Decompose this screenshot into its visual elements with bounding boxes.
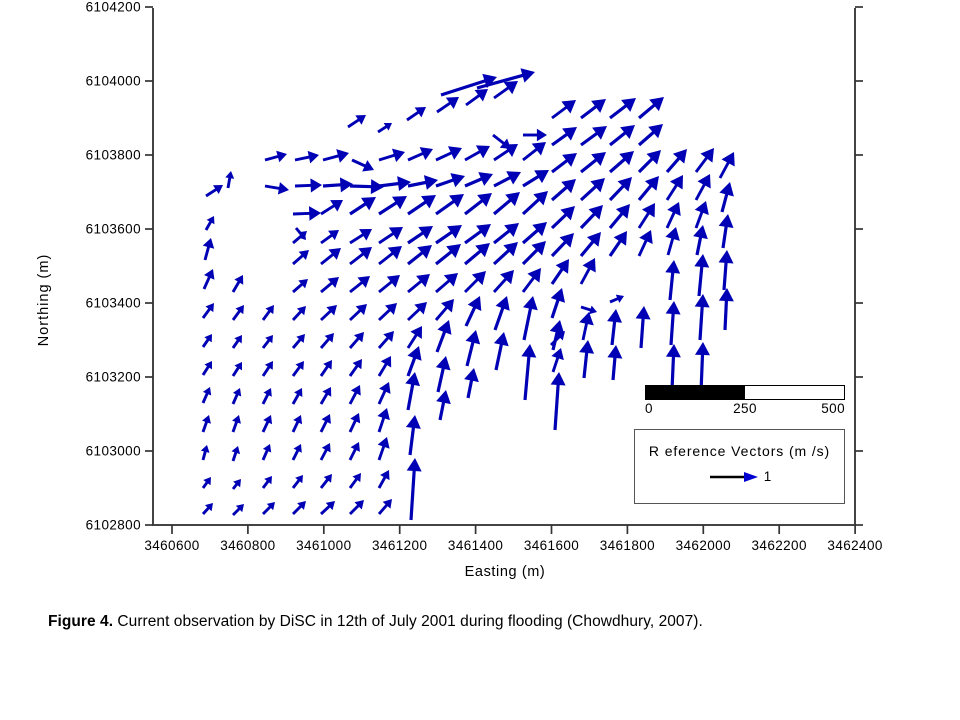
current-vector-arrow <box>350 413 360 432</box>
scale-bar-track <box>645 385 845 400</box>
current-vector-arrow <box>348 115 366 127</box>
x-tick-label: 3460600 <box>144 538 199 553</box>
current-vector-arrow <box>350 442 360 460</box>
current-vector-arrow <box>436 146 462 160</box>
current-vector-arrow <box>321 360 332 376</box>
current-vector-arrow <box>350 385 361 404</box>
current-vector-arrow <box>321 333 334 348</box>
current-vector-arrow <box>581 205 603 228</box>
current-vector-arrow <box>321 501 335 514</box>
current-vector-arrow <box>203 238 214 260</box>
current-vector-arrow <box>551 288 565 318</box>
current-vector-arrow <box>233 504 244 515</box>
current-vector-arrow <box>695 201 709 228</box>
current-vector-arrow <box>293 206 321 221</box>
current-vector-arrow <box>321 305 337 320</box>
current-vector-arrow <box>350 197 376 214</box>
current-vector-arrow <box>639 97 664 118</box>
current-vector-arrow <box>521 344 536 400</box>
reference-vector-title: R eference Vectors (m /s) <box>635 443 844 459</box>
current-vector-arrow <box>321 230 339 243</box>
current-vector-arrow <box>293 501 306 514</box>
current-vector-arrow <box>379 356 391 376</box>
current-vector-arrow <box>379 275 400 292</box>
current-vector-arrow <box>204 269 214 289</box>
current-vector-arrow <box>293 279 308 292</box>
current-vector-arrow <box>350 500 364 514</box>
x-tick-label: 3460800 <box>220 538 275 553</box>
caption-label: Figure 4. <box>48 613 113 630</box>
current-vector-arrow <box>523 170 549 186</box>
x-tick-label: 3462400 <box>827 538 882 553</box>
reference-vector-value: 1 <box>764 470 772 484</box>
plot-canvas <box>0 0 960 600</box>
current-vector-arrow <box>263 476 272 488</box>
current-vector-arrow <box>203 387 211 403</box>
x-tick-label: 3461400 <box>448 538 503 553</box>
current-vector-arrow <box>639 124 663 145</box>
current-vector-arrow <box>293 415 302 432</box>
current-vector-arrow <box>552 259 569 284</box>
current-vector-arrow <box>666 344 681 390</box>
current-vector-arrow <box>350 179 384 194</box>
scale-bar-tick-label: 0 <box>645 401 653 416</box>
current-vector-arrow <box>465 193 492 214</box>
current-vector-arrow <box>379 246 402 264</box>
current-vector-arrow <box>350 304 367 320</box>
scale-bar-fill <box>646 386 745 399</box>
scale-bar-tick-label: 500 <box>821 401 845 416</box>
current-vector-arrow <box>466 89 488 105</box>
current-vector-arrow <box>201 445 210 460</box>
current-vector-arrow <box>377 408 389 432</box>
current-vector-arrow <box>263 335 273 348</box>
current-vector-arrow <box>407 346 421 376</box>
current-vector-arrow <box>719 214 734 248</box>
distance-scale-bar: 0250500 <box>645 385 845 400</box>
current-vector-arrow <box>379 382 391 404</box>
current-vector-arrow <box>579 312 594 340</box>
current-vector-arrow <box>694 254 709 296</box>
current-vector-arrow <box>695 294 710 340</box>
current-vector-arrow <box>295 151 319 163</box>
current-vector-arrow <box>350 229 372 243</box>
current-vector-arrow <box>233 275 243 292</box>
current-vector-arrow <box>464 368 479 398</box>
current-vector-arrow <box>581 152 606 172</box>
current-vector-arrow <box>494 270 514 292</box>
current-vector-arrow <box>232 446 241 461</box>
current-vector-arrow <box>551 348 563 372</box>
current-vector-arrow <box>233 305 244 320</box>
current-vector-arrow <box>610 204 630 228</box>
current-vector-arrow <box>436 173 465 187</box>
current-vector-arrow <box>523 191 548 214</box>
figure-container: 6102800610300061032006103400610360061038… <box>0 0 960 720</box>
current-vector-arrow <box>323 177 353 192</box>
x-tick-label: 3461200 <box>372 538 427 553</box>
current-vector-arrow <box>639 230 653 256</box>
current-vector-arrow <box>552 100 576 118</box>
current-vector-arrow <box>667 175 683 200</box>
current-vector-arrow <box>379 176 411 191</box>
x-tick-label: 3461000 <box>296 538 351 553</box>
current-vector-arrow <box>323 149 349 163</box>
current-vector-arrow <box>607 345 622 380</box>
current-vector-arrow <box>408 245 432 264</box>
current-vector-arrow <box>263 361 273 376</box>
current-vector-arrow <box>233 479 241 489</box>
current-vector-arrow <box>523 296 538 340</box>
current-vector-arrow <box>552 206 575 228</box>
current-vector-arrow <box>321 200 343 214</box>
current-vector-arrow <box>523 268 541 292</box>
current-vector-arrow <box>232 415 241 432</box>
current-vector-arrow <box>406 415 421 455</box>
current-vector-arrow <box>696 148 714 172</box>
current-vector-arrow <box>693 225 708 255</box>
current-vector-arrow <box>552 153 577 172</box>
current-vector-arrow <box>233 362 242 376</box>
current-vector-arrow <box>293 306 306 320</box>
current-vector-arrow <box>379 303 397 320</box>
current-vector-arrow <box>494 223 519 243</box>
current-vector-arrow <box>639 150 661 172</box>
current-vector-arrow <box>203 361 212 375</box>
current-vector-arrow <box>206 185 223 196</box>
current-vector-arrow <box>465 271 486 292</box>
current-vector-arrow <box>719 288 734 330</box>
current-vector-arrow <box>350 359 362 376</box>
y-tick-label: 6103200 <box>86 370 141 385</box>
current-vector-arrow <box>494 242 518 264</box>
current-vector-arrow <box>379 196 407 214</box>
current-vector-arrow <box>494 144 518 160</box>
current-vector-arrow <box>552 127 577 145</box>
current-vector-arrow <box>263 444 271 460</box>
current-vector-arrow <box>666 301 681 345</box>
current-vector-arrow <box>552 233 574 256</box>
current-vector-arrow <box>408 226 433 243</box>
current-vector-arrow <box>265 151 287 162</box>
current-vector-arrow <box>321 443 331 460</box>
current-vector-arrow <box>203 477 211 488</box>
current-vector-arrow <box>408 274 430 292</box>
vector-field-plot: 6102800610300061032006103400610360061038… <box>0 0 960 600</box>
current-vector-arrow <box>350 247 372 264</box>
current-vector-arrow <box>321 474 332 488</box>
current-vector-arrow <box>408 147 433 160</box>
current-vector-arrow <box>407 458 422 520</box>
current-vector-arrow <box>350 473 361 488</box>
current-vector-arrow <box>408 175 438 190</box>
current-vector-arrow <box>265 182 289 194</box>
current-vector-arrow <box>293 250 309 264</box>
current-vector-arrow <box>636 306 651 348</box>
current-vector-arrow <box>202 415 211 432</box>
current-vector-arrow <box>233 388 241 404</box>
current-vector-arrow <box>466 296 481 326</box>
current-vector-arrow <box>379 331 394 348</box>
current-vector-arrow <box>667 202 681 228</box>
y-tick-label: 6103400 <box>86 296 141 311</box>
current-vector-arrow <box>551 372 566 430</box>
current-vector-arrow <box>579 340 594 378</box>
current-vector-arrow <box>610 177 632 200</box>
current-vector-arrow <box>581 232 601 256</box>
current-vector-arrow <box>233 335 242 348</box>
y-tick-label: 6104200 <box>86 0 141 15</box>
current-vector-arrow <box>352 160 374 172</box>
caption-text: Current observation by DiSC in 12th of J… <box>113 613 703 630</box>
current-vector-arrow <box>610 151 634 172</box>
current-vector-arrow <box>610 98 636 118</box>
current-vector-arrow <box>436 356 451 392</box>
current-vector-arrow <box>465 145 490 160</box>
y-tick-label: 6104000 <box>86 74 141 89</box>
current-vector-arrow <box>408 302 427 320</box>
current-vector-arrow <box>610 231 627 256</box>
current-vector-arrow <box>203 303 214 318</box>
current-vector-arrow <box>321 387 331 404</box>
current-vector-arrow <box>379 470 389 488</box>
current-vector-arrow <box>667 149 687 172</box>
y-tick-label: 6102800 <box>86 518 141 533</box>
current-vector-arrow <box>581 99 606 118</box>
current-vector-arrow <box>639 176 659 200</box>
x-tick-label: 3462200 <box>752 538 807 553</box>
current-vector-arrow <box>639 203 655 228</box>
current-vector-arrow <box>293 444 302 460</box>
current-vector-arrow <box>610 125 635 145</box>
current-vector-arrow <box>581 178 605 200</box>
current-vector-arrow <box>405 372 420 410</box>
current-vector-arrow <box>379 499 392 514</box>
current-vector-arrow <box>263 502 275 514</box>
current-vector-arrow <box>263 305 274 320</box>
current-vector-arrow <box>523 142 546 160</box>
x-axis-title: Easting (m) <box>465 564 546 580</box>
current-vector-arrow <box>581 126 607 145</box>
current-vector-arrow <box>610 295 624 303</box>
current-vector-arrow <box>465 172 493 186</box>
current-vector-arrow <box>203 503 213 514</box>
x-tick-label: 3461800 <box>600 538 655 553</box>
x-tick-label: 3461600 <box>524 538 579 553</box>
y-tick-label: 6103600 <box>86 222 141 237</box>
current-vector-arrow <box>293 231 307 243</box>
current-vector-arrow <box>720 152 735 178</box>
current-vector-arrow <box>494 171 521 186</box>
y-tick-label: 6103800 <box>86 148 141 163</box>
current-vector-arrow <box>465 243 490 264</box>
current-vector-arrow <box>350 276 370 292</box>
current-vector-arrow <box>263 415 272 432</box>
current-vector-arrow <box>436 194 464 214</box>
current-vector-arrow <box>465 224 491 243</box>
current-vector-arrow <box>494 332 509 370</box>
reference-arrow-icon <box>708 470 762 484</box>
current-vector-arrow <box>665 260 680 300</box>
y-tick-label: 6103000 <box>86 444 141 459</box>
current-vector-arrow <box>719 250 734 290</box>
current-vector-arrow <box>295 178 322 192</box>
current-vector-arrow <box>379 227 403 243</box>
current-vector-arrow <box>378 123 392 132</box>
current-vector-arrow <box>293 388 302 404</box>
reference-vector-legend: R eference Vectors (m /s) 1 <box>634 429 845 504</box>
current-vector-arrow <box>378 437 390 460</box>
current-vector-arrow <box>523 222 547 243</box>
current-vector-arrow <box>581 258 596 284</box>
current-vector-arrow <box>495 296 510 330</box>
current-vector-arrow <box>206 216 214 230</box>
current-vector-arrow <box>225 171 234 188</box>
current-vector-arrow <box>436 225 462 243</box>
current-vector-arrow <box>551 331 565 345</box>
current-vector-arrow <box>665 227 679 255</box>
current-vector-arrow <box>203 334 212 347</box>
current-vector-arrow <box>607 309 622 345</box>
current-vector-arrow <box>437 320 451 352</box>
current-vector-arrow <box>523 129 547 141</box>
current-vector-arrow <box>523 241 546 264</box>
current-vector-arrow <box>321 248 341 264</box>
x-tick-label: 3462000 <box>676 538 731 553</box>
current-vector-arrow <box>293 475 303 488</box>
current-vector-arrow <box>407 107 426 120</box>
current-vector-arrow <box>436 273 458 292</box>
current-vector-arrow <box>719 182 733 212</box>
current-vector-arrow <box>466 330 481 366</box>
current-vector-arrow <box>350 332 364 348</box>
current-vector-arrow <box>437 97 459 112</box>
current-vector-arrow <box>408 195 436 214</box>
current-vector-arrow <box>293 334 305 348</box>
scale-bar-tick-label: 250 <box>733 401 757 416</box>
figure-caption: Figure 4. Current observation by DiSC in… <box>48 612 928 633</box>
current-vector-arrow <box>552 179 576 200</box>
y-axis-title: Northing (m) <box>36 254 52 347</box>
current-vector-arrow <box>408 326 422 348</box>
current-vector-arrow <box>436 244 461 264</box>
current-vector-arrow <box>696 174 711 200</box>
current-vector-arrow <box>379 149 405 163</box>
current-vector-arrow <box>321 414 331 432</box>
current-vector-arrow <box>321 277 339 292</box>
current-vector-arrow <box>293 361 304 376</box>
current-vector-arrow <box>263 388 272 404</box>
current-vector-arrow <box>494 192 520 214</box>
current-vector-arrow <box>436 299 454 320</box>
reference-vector-sample: 1 <box>635 470 844 484</box>
current-vector-arrow <box>436 390 451 420</box>
